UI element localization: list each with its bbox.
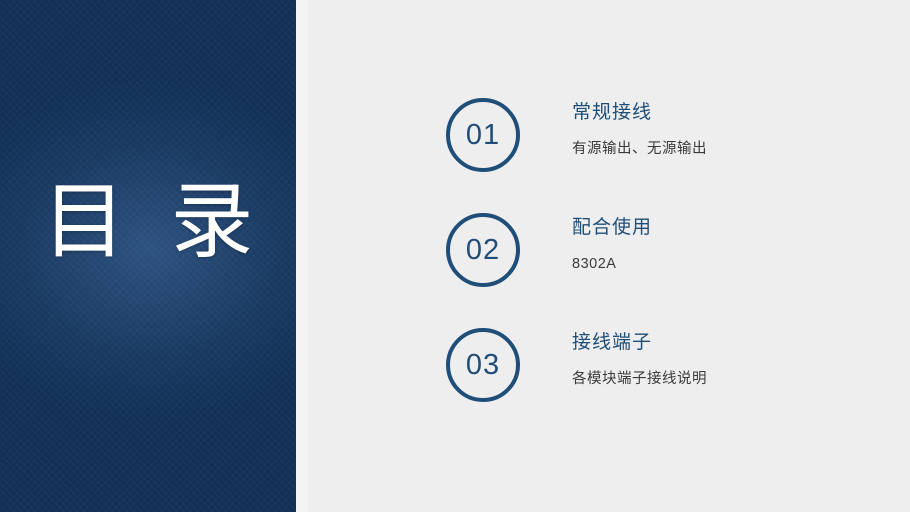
toc-subtitle: 有源输出、无源输出	[572, 139, 886, 159]
toc-text-group: 接线端子 各模块端子接线说明	[572, 331, 886, 389]
toc-text-group: 配合使用 8302A	[572, 216, 886, 274]
toc-entry-01[interactable]: 01 常规接线 有源输出、无源输出	[446, 98, 886, 190]
left-title-panel: 目 录	[0, 0, 296, 512]
toc-heading: 常规接线	[572, 101, 886, 125]
page-title: 目 录	[0, 181, 296, 264]
toc-heading: 接线端子	[572, 331, 886, 355]
toc-number-badge: 01	[446, 98, 520, 172]
toc-heading: 配合使用	[572, 216, 886, 240]
presentation-slide: 目 录 01 常规接线 有源输出、无源输出 02 配合使用 8302A 03 接…	[0, 0, 910, 512]
toc-content-area: 01 常规接线 有源输出、无源输出 02 配合使用 8302A 03 接线端子 …	[308, 0, 910, 512]
panel-edge-strip	[296, 0, 308, 512]
toc-entry-03[interactable]: 03 接线端子 各模块端子接线说明	[446, 328, 886, 420]
toc-subtitle: 8302A	[572, 254, 886, 274]
toc-entry-02[interactable]: 02 配合使用 8302A	[446, 213, 886, 305]
toc-number-badge: 03	[446, 328, 520, 402]
toc-number-badge: 02	[446, 213, 520, 287]
toc-text-group: 常规接线 有源输出、无源输出	[572, 101, 886, 159]
toc-subtitle: 各模块端子接线说明	[572, 369, 886, 389]
